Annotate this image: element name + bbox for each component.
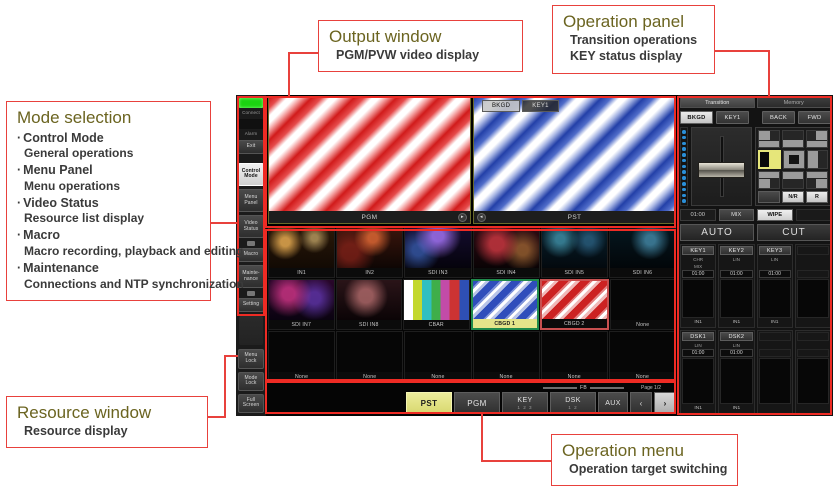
led-indicator: [682, 153, 686, 157]
op-button-pgm-label: PGM: [467, 399, 486, 408]
keyer-key1-mode: MIX: [682, 263, 714, 269]
resource-row: None None None None None None: [268, 331, 676, 382]
resource-row: SDI IN7 SDI IN8 CBAR CBGD 1 CBGD 2 None: [268, 279, 676, 330]
dsk2-time[interactable]: 01:00: [720, 349, 752, 357]
resource-cell[interactable]: SDI IN3: [404, 227, 471, 278]
pgm-label: PGM: [361, 214, 377, 221]
op-button-pgm[interactable]: PGM: [454, 392, 500, 414]
resource-cell[interactable]: None: [268, 331, 335, 382]
resource-caption: SDI IN7: [269, 320, 334, 329]
resource-cell[interactable]: SDI IN4: [473, 227, 540, 278]
t-bar-slider[interactable]: [691, 127, 752, 206]
wipe-pattern-top[interactable]: [782, 130, 804, 148]
callout-operation-panel-sub1: Transition operations: [563, 32, 704, 49]
pst-tab-key1[interactable]: KEY1: [522, 100, 559, 112]
rail-button-full-screen[interactable]: Full Screen: [238, 394, 264, 413]
thumbnail-image: [405, 228, 470, 268]
prev-page-icon[interactable]: ‹: [630, 392, 652, 414]
resource-cell[interactable]: IN2: [336, 227, 403, 278]
thumbnail-image: [269, 228, 334, 268]
connector-operation-menu-v: [481, 414, 483, 461]
wipe-pattern-corner-br[interactable]: [806, 171, 828, 189]
resource-caption: CBAR: [404, 320, 469, 329]
callout-mode-selection-title: Mode selection: [17, 108, 200, 128]
wipe-direction-nr[interactable]: N/R: [782, 191, 804, 203]
dsk1: DSK1 LIN 01:00 IN1: [680, 330, 716, 414]
pst-tab-bkgd[interactable]: BKGD: [482, 100, 520, 112]
resource-caption: SDI IN3: [405, 268, 470, 277]
keyer-empty-mode: [797, 263, 829, 269]
mode-item-main: Menu Panel: [17, 163, 200, 179]
cut-button[interactable]: CUT: [757, 224, 831, 241]
fb-line-right: [590, 387, 624, 389]
operation-menu-buttons: PST PGM KEY 1 2 3 DSK 1 2 AUX: [268, 392, 676, 414]
list-item: Maintenance Connections and NTP synchron…: [17, 261, 200, 292]
op-button-pst-label: PST: [421, 399, 438, 408]
dsk2-source: IN1: [720, 405, 752, 412]
page-indicator: Page 1/2: [628, 385, 674, 391]
wipe-pattern-left-selected[interactable]: [758, 150, 781, 168]
wipe-direction-r[interactable]: R: [806, 191, 828, 203]
page-controls: ‹ ›: [630, 392, 676, 414]
wipe-pattern-corner-tr[interactable]: [806, 130, 828, 148]
resource-cell[interactable]: SDI IN8: [336, 279, 403, 330]
op-button-key-label: KEY: [517, 397, 532, 404]
transition-wipe-button[interactable]: WIPE: [757, 209, 793, 221]
dsk-empty-1-thumbnail: [759, 358, 791, 404]
op-button-aux-label: AUX: [605, 400, 621, 407]
keyer-key1-button[interactable]: KEY1: [682, 246, 714, 255]
thumbnail-image: [269, 332, 334, 372]
keyer-key2: KEY2 LIN 01:00 IN1: [718, 244, 754, 328]
keyer-empty-thumbnail: [797, 279, 829, 318]
screenshot-root: Mode selection Control Mode General oper…: [0, 0, 833, 491]
mode-item-sub: Menu operations: [17, 179, 200, 194]
connector-resource-window-h: [208, 416, 226, 418]
thumbnail-image: [337, 332, 402, 372]
next-page-icon[interactable]: ›: [654, 392, 676, 414]
transition-action-row: AUTO CUT: [680, 224, 831, 241]
dsk1-source: IN1: [682, 405, 714, 412]
keyer-empty-source: [797, 319, 829, 326]
rail-button-exit[interactable]: Exit: [238, 140, 264, 154]
dsk-empty-2-time: [797, 349, 829, 357]
operation-menu-top: FB Page 1/2: [268, 384, 676, 392]
wipe-direction-row: N/R R: [758, 191, 828, 203]
dsk-empty-2-source: [797, 405, 829, 412]
callout-output-window-sub: PGM/PVW video display: [329, 47, 512, 64]
keyer-key3: KEY3 LIN 01:00 IN1: [757, 244, 793, 328]
callout-operation-panel-title: Operation panel: [563, 12, 704, 32]
mode-item-main: Macro: [17, 228, 200, 244]
thumbnail-image: [337, 228, 402, 268]
rail-button-control-mode[interactable]: Control Mode: [238, 163, 264, 186]
button-back[interactable]: BACK: [762, 111, 795, 124]
keyer-key2-mode: [720, 263, 752, 269]
resource-caption: None: [337, 372, 402, 381]
callout-operation-menu-sub: Operation target switching: [562, 461, 727, 478]
alarm-led: [239, 119, 263, 129]
rail-button-menu-panel[interactable]: Menu Panel: [238, 189, 264, 212]
transition-led-column: [680, 127, 688, 206]
resource-caption: None: [610, 372, 675, 381]
mode-item-sub: Connections and NTP synchronization: [17, 277, 200, 292]
callout-output-window-title: Output window: [329, 27, 512, 47]
thumbnail-image: [474, 332, 539, 372]
wipe-pattern-grid: N/R R: [755, 127, 831, 206]
led-indicator: [682, 176, 686, 180]
thumbnail-image: [404, 280, 469, 320]
button-fwd[interactable]: FWD: [798, 111, 831, 124]
callout-operation-menu: Operation menu Operation target switchin…: [551, 434, 738, 486]
tab-memory[interactable]: Memory: [757, 97, 832, 108]
dsk-row: DSK1 LIN 01:00 IN1 DSK2 LIN 01:00 IN1: [680, 330, 831, 414]
thumbnail-image: [542, 332, 607, 372]
resource-cell-selected-pgm[interactable]: CBGD 2: [540, 279, 609, 330]
resource-caption: SDI IN5: [542, 268, 607, 277]
pgm-output: PGM ▸: [268, 97, 471, 224]
resource-caption: CBGD 1: [473, 319, 538, 328]
resource-row: IN1 IN2 SDI IN3 SDI IN4 SDI IN5 SDI IN6: [268, 227, 676, 278]
op-button-aux[interactable]: AUX: [598, 392, 628, 414]
keyer-key2-button[interactable]: KEY2: [720, 246, 752, 255]
pst-video: BKGD KEY1: [474, 98, 675, 211]
wipe-pattern-corner-tl[interactable]: [758, 130, 780, 148]
led-indicator: [682, 142, 686, 146]
chevron-left-icon[interactable]: ◂: [477, 213, 486, 222]
led-indicator: [682, 136, 686, 140]
transition-source-row: BKGD KEY1 BACK FWD: [680, 111, 831, 124]
panel-tabs: Transition Memory: [680, 97, 831, 108]
pst-bar: ◂ PST: [474, 211, 675, 223]
switcher-application-window: Connect Alarm Exit Control Mode Menu Pan…: [236, 95, 833, 416]
keyer-key3-thumbnail: [759, 279, 791, 318]
rail-button-menu-lock[interactable]: Menu Lock: [238, 349, 264, 368]
keyer-key2-type: LIN: [720, 256, 752, 262]
setting-indicator-icon: [247, 291, 255, 296]
resource-cell[interactable]: SDI IN6: [609, 227, 676, 278]
alarm-label: Alarm: [238, 131, 264, 136]
dsk1-type: LIN: [682, 342, 714, 348]
keyer-empty-time: [797, 270, 829, 278]
transition-time-button[interactable]: 01:00: [680, 209, 716, 221]
tab-transition[interactable]: Transition: [680, 97, 755, 108]
resource-cell[interactable]: None: [336, 331, 403, 382]
keyer-key3-button[interactable]: KEY3: [759, 246, 791, 255]
dsk2: DSK2 LIN 01:00 IN1: [718, 330, 754, 414]
dsk2-thumbnail: [720, 358, 752, 404]
keyer-empty-button: [797, 246, 829, 255]
keyer-key1-type: CHR: [682, 256, 714, 262]
thumbnail-image: [405, 332, 470, 372]
callout-resource-window: Resource window Resource display: [6, 396, 208, 448]
led-indicator: [682, 165, 686, 169]
keyer-key3-time[interactable]: 01:00: [759, 270, 791, 278]
wipe-pattern-rows: [758, 130, 828, 189]
list-item: Control Mode General operations: [17, 131, 200, 162]
resource-cell[interactable]: None: [541, 331, 608, 382]
connector-operation-panel-v: [768, 50, 770, 96]
resource-cell[interactable]: IN1: [268, 227, 335, 278]
resource-cell[interactable]: None: [473, 331, 540, 382]
list-item: Video Status Resource list display: [17, 196, 200, 227]
dsk1-button[interactable]: DSK1: [682, 332, 714, 341]
transition-mode-row: 01:00 MIX WIPE: [680, 209, 831, 221]
wipe-direction-r-label: R: [807, 192, 827, 202]
thumbnail-image: [474, 228, 539, 268]
wipe-pattern-right[interactable]: [807, 150, 828, 168]
rail-button-video-status[interactable]: Video Status: [238, 215, 264, 238]
wipe-pattern-row: [758, 130, 828, 148]
button-bkgd[interactable]: BKGD: [680, 111, 713, 124]
thumbnail-image: [610, 332, 675, 372]
dsk-empty-1-button: [759, 332, 791, 341]
pgm-bar: PGM ▸: [269, 211, 470, 223]
button-key1[interactable]: KEY1: [716, 111, 749, 124]
dsk-empty-1-time: [759, 349, 791, 357]
resource-caption: SDI IN4: [474, 268, 539, 277]
list-item: Macro Macro recording, playback and edit…: [17, 228, 200, 259]
resource-cell[interactable]: None: [610, 279, 677, 330]
resource-cell[interactable]: CBAR: [403, 279, 470, 330]
thumbnail-image: [611, 280, 676, 320]
led-indicator: [682, 194, 686, 198]
keyer-key3-mode: [759, 263, 791, 269]
rail-button-mode-lock[interactable]: Mode Lock: [238, 372, 264, 391]
callout-operation-panel-sub2: KEY status display: [563, 48, 704, 65]
keyer-empty-type: [797, 256, 829, 262]
mode-item-sub: Macro recording, playback and editing: [17, 244, 200, 259]
dsk-empty-1-source: [759, 405, 791, 412]
connect-label: Connect: [238, 110, 264, 115]
resource-cell[interactable]: None: [609, 331, 676, 382]
op-button-dsk-sub: 1 2: [568, 405, 577, 410]
led-indicator: [682, 159, 686, 163]
op-button-key[interactable]: KEY 1 2 3: [502, 392, 548, 414]
led-indicator: [682, 130, 686, 134]
dsk-empty-1-type: [759, 342, 791, 348]
output-window: PGM ▸ BKGD KEY1 ◂ PST: [266, 95, 678, 226]
thumbnail-image: [610, 228, 675, 268]
thumbnail-image: [473, 281, 538, 319]
thumbnail-image: [542, 228, 607, 268]
resource-caption: SDI IN6: [610, 268, 675, 277]
auto-button[interactable]: AUTO: [680, 224, 754, 241]
op-button-dsk[interactable]: DSK 1 2: [550, 392, 596, 414]
wipe-pattern-row: [758, 171, 828, 189]
keyer-empty: [795, 244, 831, 328]
mode-item-main: Video Status: [17, 196, 200, 212]
resource-cell[interactable]: None: [404, 331, 471, 382]
callout-operation-panel: Operation panel Transition operations KE…: [552, 5, 715, 74]
mode-item-main: Control Mode: [17, 131, 200, 147]
dsk-empty-2-type: [797, 342, 829, 348]
op-button-dsk-label: DSK: [565, 397, 581, 404]
mode-item-sub: Resource list display: [17, 211, 200, 226]
connector-resource-window-top: [224, 355, 238, 357]
connect-led: [239, 98, 263, 108]
thumbnail-image: [269, 280, 334, 320]
callout-output-window: Output window PGM/PVW video display: [318, 20, 523, 72]
transition-blank-slot: [796, 209, 832, 221]
fb-line-left: [543, 387, 577, 389]
chevron-right-icon[interactable]: ▸: [458, 213, 467, 222]
mode-selection-list: Control Mode General operations Menu Pan…: [17, 131, 200, 292]
resource-caption: SDI IN8: [337, 320, 402, 329]
resource-caption: None: [269, 372, 334, 381]
thumbnail-image: [337, 280, 402, 320]
resource-caption: None: [611, 320, 676, 329]
resource-caption: CBGD 2: [542, 319, 607, 328]
resource-caption: None: [474, 372, 539, 381]
transition-mix-button[interactable]: MIX: [719, 209, 755, 221]
callout-mode-selection: Mode selection Control Mode General oper…: [6, 101, 211, 301]
resource-caption: IN1: [269, 268, 334, 277]
mode-item-sub: General operations: [17, 146, 200, 161]
thumbnail-image: [542, 281, 607, 319]
keyer-key3-source: IN1: [759, 319, 791, 326]
led-indicator: [682, 199, 686, 203]
pst-overlay-tabs: BKGD KEY1: [482, 100, 559, 112]
resource-caption: None: [542, 372, 607, 381]
dsk1-thumbnail: [682, 358, 714, 404]
op-button-pst[interactable]: PST: [406, 392, 452, 414]
keyer-row: KEY1 CHR MIX 01:00 IN1 KEY2 LIN 01:00 IN…: [680, 244, 831, 328]
keyer-key2-time[interactable]: 01:00: [720, 270, 752, 278]
resource-cell[interactable]: SDI IN7: [268, 279, 335, 330]
list-item: Menu Panel Menu operations: [17, 163, 200, 194]
dsk-empty-2-thumbnail: [797, 358, 829, 404]
operation-menu-spacer: [268, 392, 404, 414]
led-indicator: [682, 170, 686, 174]
key-status-grid: KEY1 CHR MIX 01:00 IN1 KEY2 LIN 01:00 IN…: [680, 244, 831, 414]
connector-output-window-v: [288, 52, 290, 96]
wipe-pattern-bottom[interactable]: [782, 171, 804, 189]
resource-cell-selected-pst[interactable]: CBGD 1: [471, 279, 540, 330]
led-indicator: [682, 188, 686, 192]
op-button-key-sub: 1 2 3: [517, 405, 532, 410]
keyer-key1-thumbnail: [682, 279, 714, 318]
dsk-empty-2-button: [797, 332, 829, 341]
transition-area: N/R R: [680, 127, 831, 206]
wipe-direction-nr-label: N/R: [783, 192, 803, 202]
callout-operation-menu-title: Operation menu: [562, 441, 727, 461]
mode-item-main: Maintenance: [17, 261, 200, 277]
center-column: PGM ▸ BKGD KEY1 ◂ PST: [266, 95, 678, 416]
pst-output: BKGD KEY1 ◂ PST: [473, 97, 676, 224]
pst-label: PST: [568, 214, 582, 221]
pgm-video: [269, 98, 470, 211]
keyer-key3-type: LIN: [759, 256, 791, 262]
keyer-key1-time[interactable]: 01:00: [682, 270, 714, 278]
dsk1-time[interactable]: 01:00: [682, 349, 714, 357]
wipe-pattern-corner-bl[interactable]: [758, 171, 780, 189]
keyer-key2-thumbnail: [720, 279, 752, 318]
connector-resource-window-v: [224, 355, 226, 417]
callout-resource-window-title: Resource window: [17, 403, 197, 423]
wipe-direction-blank: [758, 191, 780, 203]
operation-menu: FB Page 1/2 PST PGM KEY 1 2 3: [266, 383, 678, 416]
wipe-pattern-box[interactable]: [783, 150, 804, 168]
macro-indicator-icon: [247, 241, 255, 246]
dsk2-type: LIN: [720, 342, 752, 348]
resource-window: IN1 IN2 SDI IN3 SDI IN4 SDI IN5 SDI IN6 …: [266, 226, 678, 383]
keyer-key2-source: IN1: [720, 319, 752, 326]
callout-resource-window-sub: Resource display: [17, 423, 197, 440]
connector-operation-menu-h: [481, 460, 551, 462]
keyer-key1: KEY1 CHR MIX 01:00 IN1: [680, 244, 716, 328]
keyer-key1-source: IN1: [682, 319, 714, 326]
resource-cell[interactable]: SDI IN5: [541, 227, 608, 278]
rail-button-setting[interactable]: Setting: [238, 298, 264, 312]
connector-output-window-h: [288, 52, 318, 54]
connector-operation-panel-h: [715, 50, 769, 52]
t-bar-handle[interactable]: [698, 162, 745, 178]
dsk2-button[interactable]: DSK2: [720, 332, 752, 341]
dsk-empty-2: [795, 330, 831, 414]
dsk-empty-1: [757, 330, 793, 414]
led-indicator: [682, 182, 686, 186]
resource-caption: None: [405, 372, 470, 381]
connector-mode-selection: [211, 222, 237, 224]
rail-empty-area: [239, 316, 263, 346]
led-indicator: [682, 147, 686, 151]
resource-caption: IN2: [337, 268, 402, 277]
fb-label: FB: [580, 385, 587, 391]
operation-panel: Transition Memory BKGD KEY1 BACK FWD: [678, 95, 833, 416]
fb-indicator: FB: [543, 385, 624, 391]
wipe-pattern-row: [758, 150, 828, 168]
rail-divider: [238, 156, 264, 161]
